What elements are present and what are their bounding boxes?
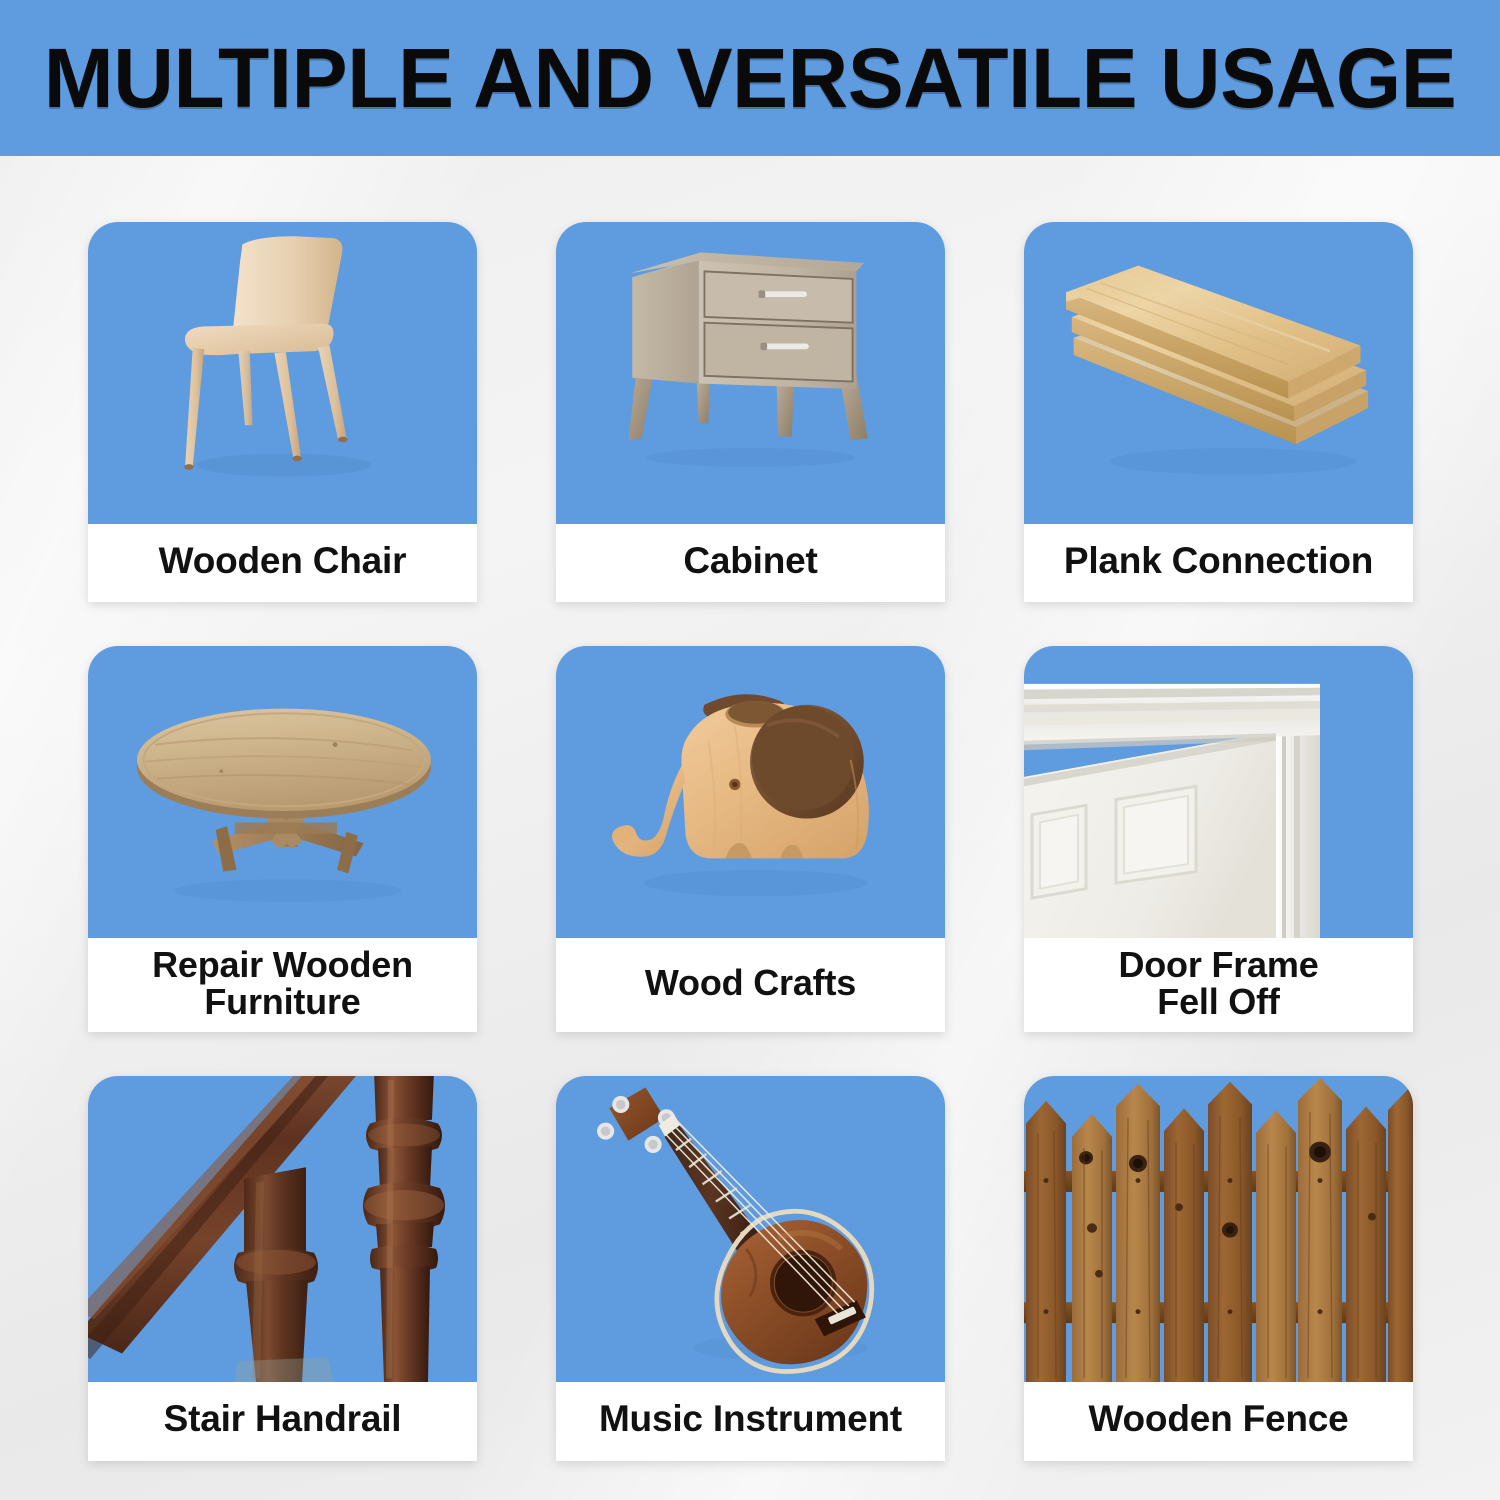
card-label-text: Wooden Chair: [159, 542, 407, 580]
door-frame-media: [1024, 646, 1413, 938]
wooden-fence-media: [1024, 1076, 1413, 1382]
card-label-text: Repair Wooden Furniture: [152, 946, 413, 1020]
card-label-text: Door Frame Fell Off: [1118, 946, 1318, 1020]
round-wooden-table-image: [88, 646, 477, 938]
usage-card-wood-crafts[interactable]: Wood Crafts: [556, 646, 945, 1032]
wooden-chair-media: [88, 222, 477, 524]
wood-crafts-media: [556, 646, 945, 938]
usage-card-stair-handrail[interactable]: Stair Handrail: [88, 1076, 477, 1461]
cabinet-media: [556, 222, 945, 524]
usage-card-music-instrument[interactable]: Music Instrument: [556, 1076, 945, 1461]
card-label-text: Wooden Fence: [1088, 1400, 1348, 1438]
card-label-text: Stair Handrail: [164, 1400, 402, 1438]
page-title: MULTIPLE AND VERSATILE USAGE: [44, 36, 1456, 120]
card-label-cabinet: Cabinet: [556, 524, 945, 602]
wooden-fence-image: [1024, 1076, 1413, 1382]
card-label-door-frame: Door Frame Fell Off: [1024, 938, 1413, 1032]
card-label-music-instrument: Music Instrument: [556, 1382, 945, 1461]
card-label-wooden-fence: Wooden Fence: [1024, 1382, 1413, 1461]
usage-card-grid: Wooden Chair: [88, 222, 1414, 1452]
card-label-wood-crafts: Wood Crafts: [556, 938, 945, 1032]
card-label-repair-furniture: Repair Wooden Furniture: [88, 938, 477, 1032]
usage-card-wooden-fence[interactable]: Wooden Fence: [1024, 1076, 1413, 1461]
ukulele-image: [556, 1076, 945, 1382]
wooden-chair-image: [88, 222, 477, 524]
header-banner: MULTIPLE AND VERSATILE USAGE: [0, 0, 1500, 156]
card-label-text: Cabinet: [683, 542, 817, 580]
card-label-text: Plank Connection: [1064, 542, 1373, 580]
usage-card-wooden-chair[interactable]: Wooden Chair: [88, 222, 477, 602]
music-instrument-media: [556, 1076, 945, 1382]
card-label-stair-handrail: Stair Handrail: [88, 1382, 477, 1461]
stair-handrail-image: [88, 1076, 477, 1382]
card-label-text: Wood Crafts: [645, 964, 856, 1001]
plank-connection-media: [1024, 222, 1413, 524]
door-frame-image: [1024, 646, 1413, 938]
card-label-plank-connection: Plank Connection: [1024, 524, 1413, 602]
repair-furniture-media: [88, 646, 477, 938]
card-label-text: Music Instrument: [599, 1400, 902, 1438]
usage-card-cabinet[interactable]: Cabinet: [556, 222, 945, 602]
plank-connection-image: [1024, 222, 1413, 524]
usage-card-repair-furniture[interactable]: Repair Wooden Furniture: [88, 646, 477, 1032]
stair-handrail-media: [88, 1076, 477, 1382]
usage-card-plank-connection[interactable]: Plank Connection: [1024, 222, 1413, 602]
card-label-wooden-chair: Wooden Chair: [88, 524, 477, 602]
cabinet-image: [556, 222, 945, 524]
usage-card-door-frame[interactable]: Door Frame Fell Off: [1024, 646, 1413, 1032]
wooden-elephant-craft-image: [556, 646, 945, 938]
